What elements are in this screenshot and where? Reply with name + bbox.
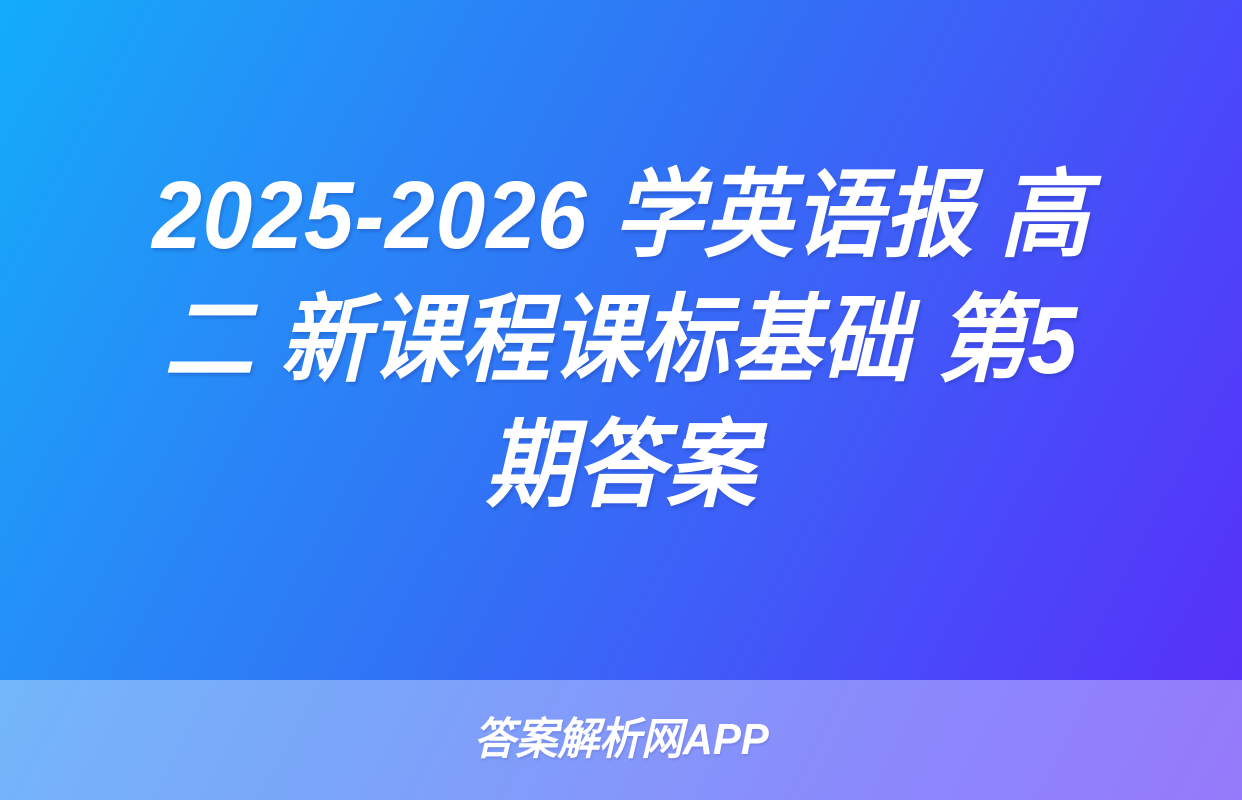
poster-title-line-2: 二 新课程课标基础 第5: [105, 278, 1137, 403]
watermark-brand-label: 答案解析网APP: [474, 718, 769, 762]
poster-canvas: 2025-2026 学英语报 高 二 新课程课标基础 第5 期答案 答案解析网A…: [0, 0, 1242, 800]
poster-title-line-3: 期答案: [105, 403, 1137, 528]
poster-title-line-1: 2025-2026 学英语报 高: [105, 153, 1137, 278]
watermark-bar: 答案解析网APP: [0, 680, 1242, 800]
poster-title-block: 2025-2026 学英语报 高 二 新课程课标基础 第5 期答案: [0, 0, 1242, 680]
